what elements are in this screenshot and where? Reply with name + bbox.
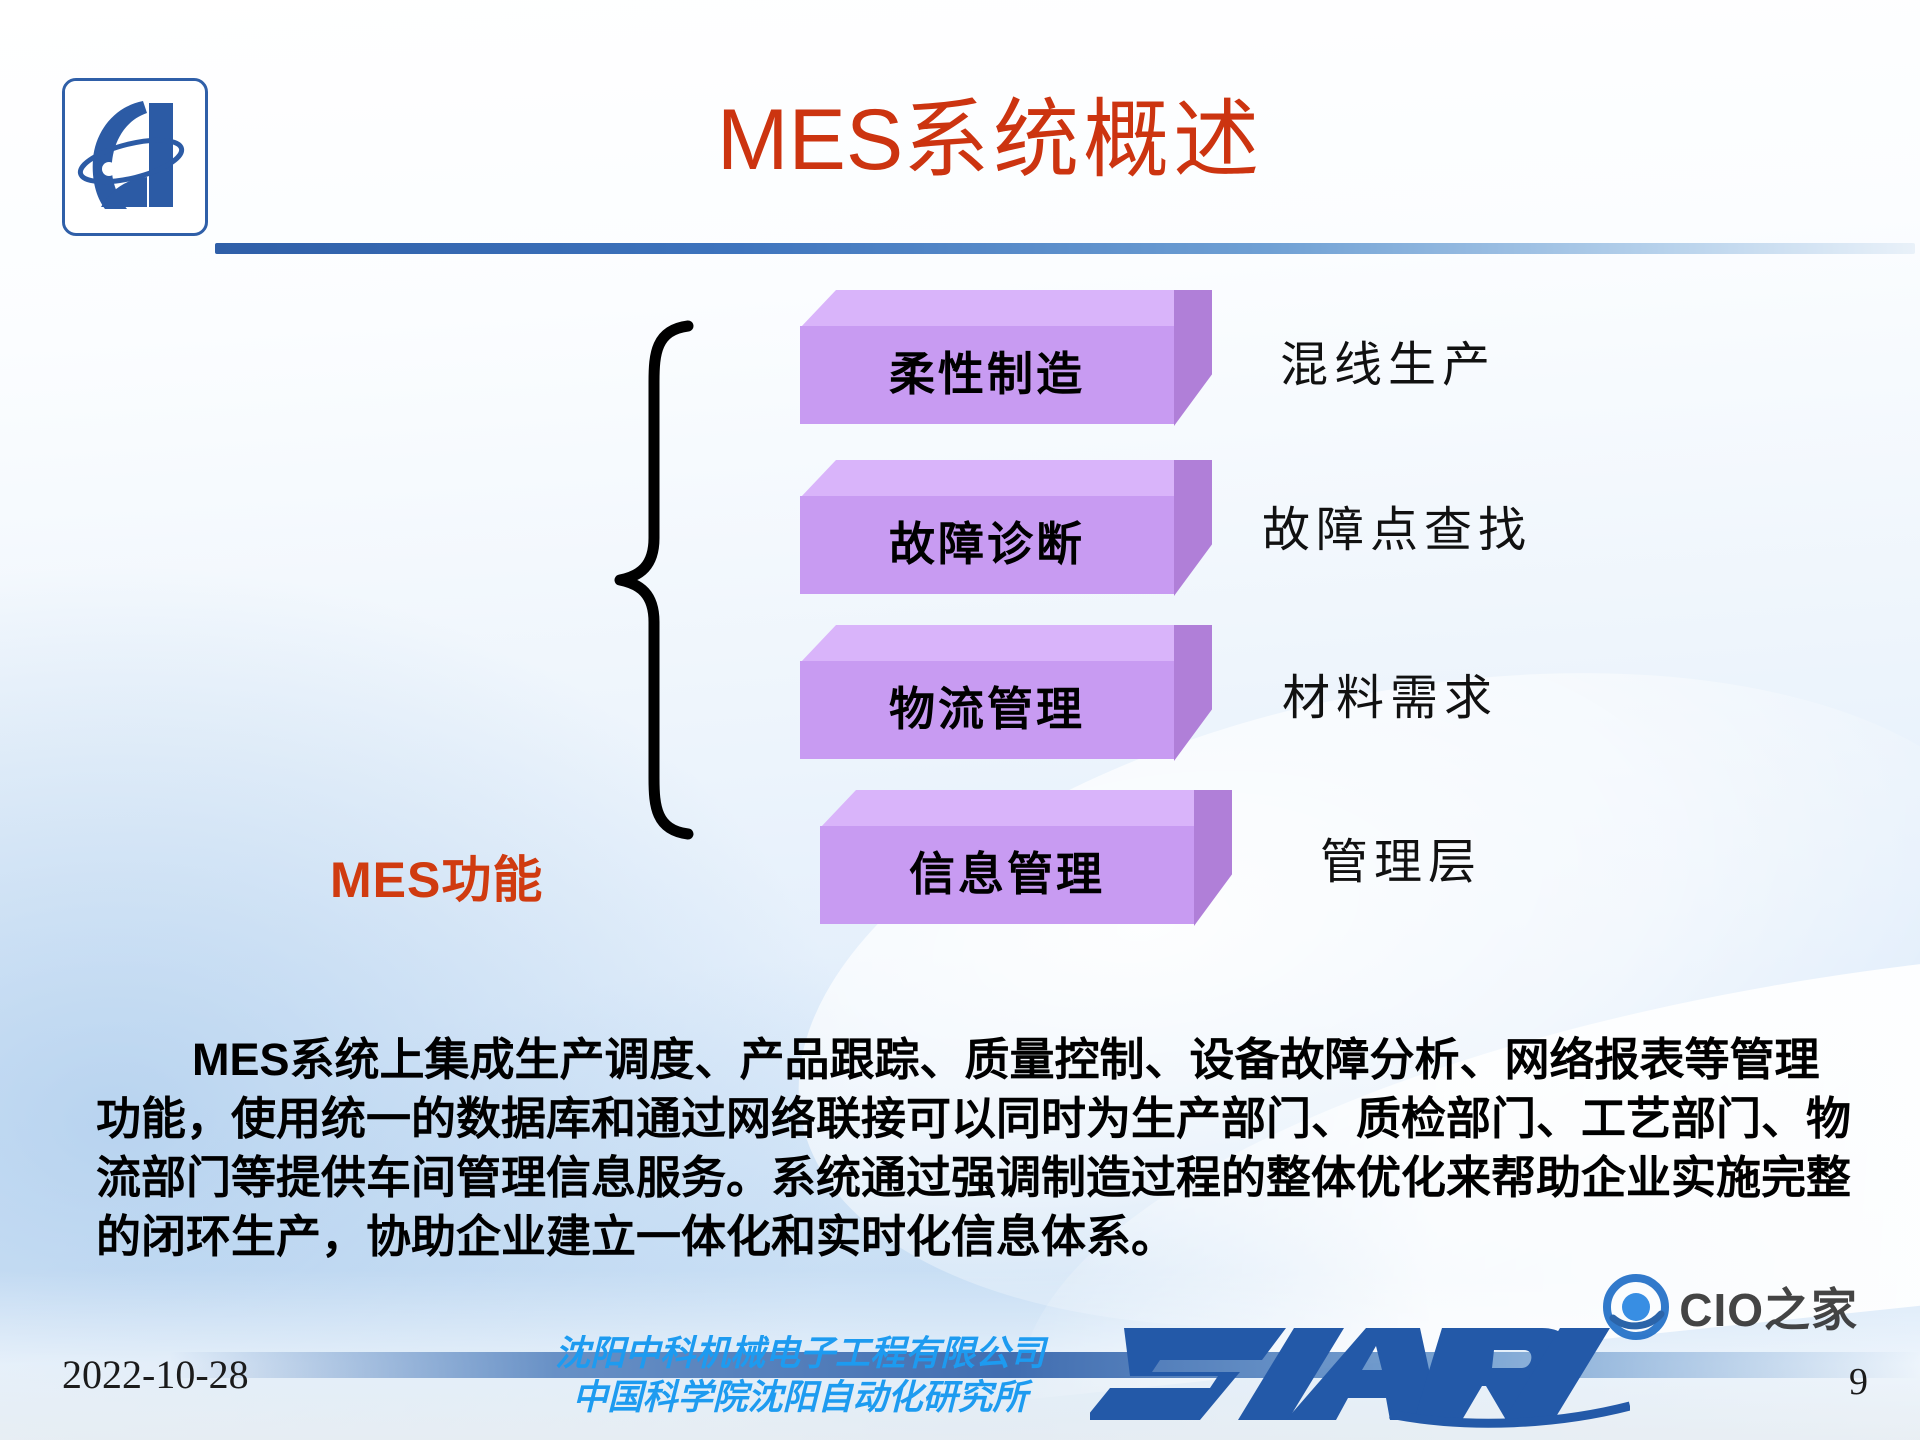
body-paragraph: MES系统上集成生产调度、产品跟踪、质量控制、设备故障分析、网络报表等管理功能，… — [96, 1030, 1856, 1266]
box-2-label: 故障诊断 — [889, 522, 1085, 568]
note-3: 材料需求 — [1282, 658, 1498, 728]
note-1: 混线生产 — [1280, 325, 1496, 395]
box-2-top-face — [800, 460, 1212, 498]
box-3-label: 物流管理 — [889, 687, 1085, 733]
box-4-front-face: 信息管理 — [820, 826, 1194, 924]
sia-logo-icon — [65, 81, 199, 227]
box-4-side-face — [1194, 790, 1232, 926]
cio-watermark-text: CIO之家 — [1679, 1274, 1858, 1340]
cio-watermark: CIO之家 — [1603, 1274, 1858, 1340]
slide-footer: 2022-10-28 沈阳中科机械电子工程有限公司 中国科学院沈阳自动化研究所 … — [0, 1290, 1920, 1440]
slide-canvas: MES系统概述 MES功能 柔性制造 混线生产 故障诊断 故障点查找 — [0, 0, 1920, 1440]
box-1-label: 柔性制造 — [889, 352, 1085, 398]
box-1-side-face — [1174, 290, 1212, 426]
box-1-front-face: 柔性制造 — [800, 326, 1174, 424]
box-3-side-face — [1174, 625, 1212, 761]
page-number: 9 — [1849, 1360, 1868, 1404]
sia-logo — [62, 78, 208, 236]
company-line-1: 沈阳中科机械电子工程有限公司 — [480, 1332, 1120, 1376]
header-divider — [215, 243, 1915, 254]
siari-logo — [1090, 1302, 1630, 1430]
slide-header: MES系统概述 — [0, 0, 1920, 260]
box-4-label: 信息管理 — [909, 852, 1105, 898]
note-2: 故障点查找 — [1262, 490, 1532, 560]
box-3-front-face: 物流管理 — [800, 661, 1174, 759]
mes-function-diagram: MES功能 柔性制造 混线生产 故障诊断 故障点查找 物流管理 — [0, 280, 1920, 1000]
box-1-top-face — [800, 290, 1212, 328]
curly-brace-icon — [610, 320, 720, 840]
page-title: MES系统概述 — [440, 86, 1540, 196]
box-4-top-face — [820, 790, 1232, 828]
box-3-top-face — [800, 625, 1212, 663]
company-credit: 沈阳中科机械电子工程有限公司 中国科学院沈阳自动化研究所 — [480, 1332, 1120, 1420]
box-2-front-face: 故障诊断 — [800, 496, 1174, 594]
note-4: 管理层 — [1320, 822, 1482, 892]
company-line-2: 中国科学院沈阳自动化研究所 — [480, 1376, 1120, 1420]
box-2-side-face — [1174, 460, 1212, 596]
group-label-mes-function: MES功能 — [330, 840, 543, 912]
page-title-cjk: 系统概述 — [903, 92, 1263, 188]
slide-date: 2022-10-28 — [62, 1351, 249, 1398]
page-title-latin: MES — [717, 92, 903, 188]
